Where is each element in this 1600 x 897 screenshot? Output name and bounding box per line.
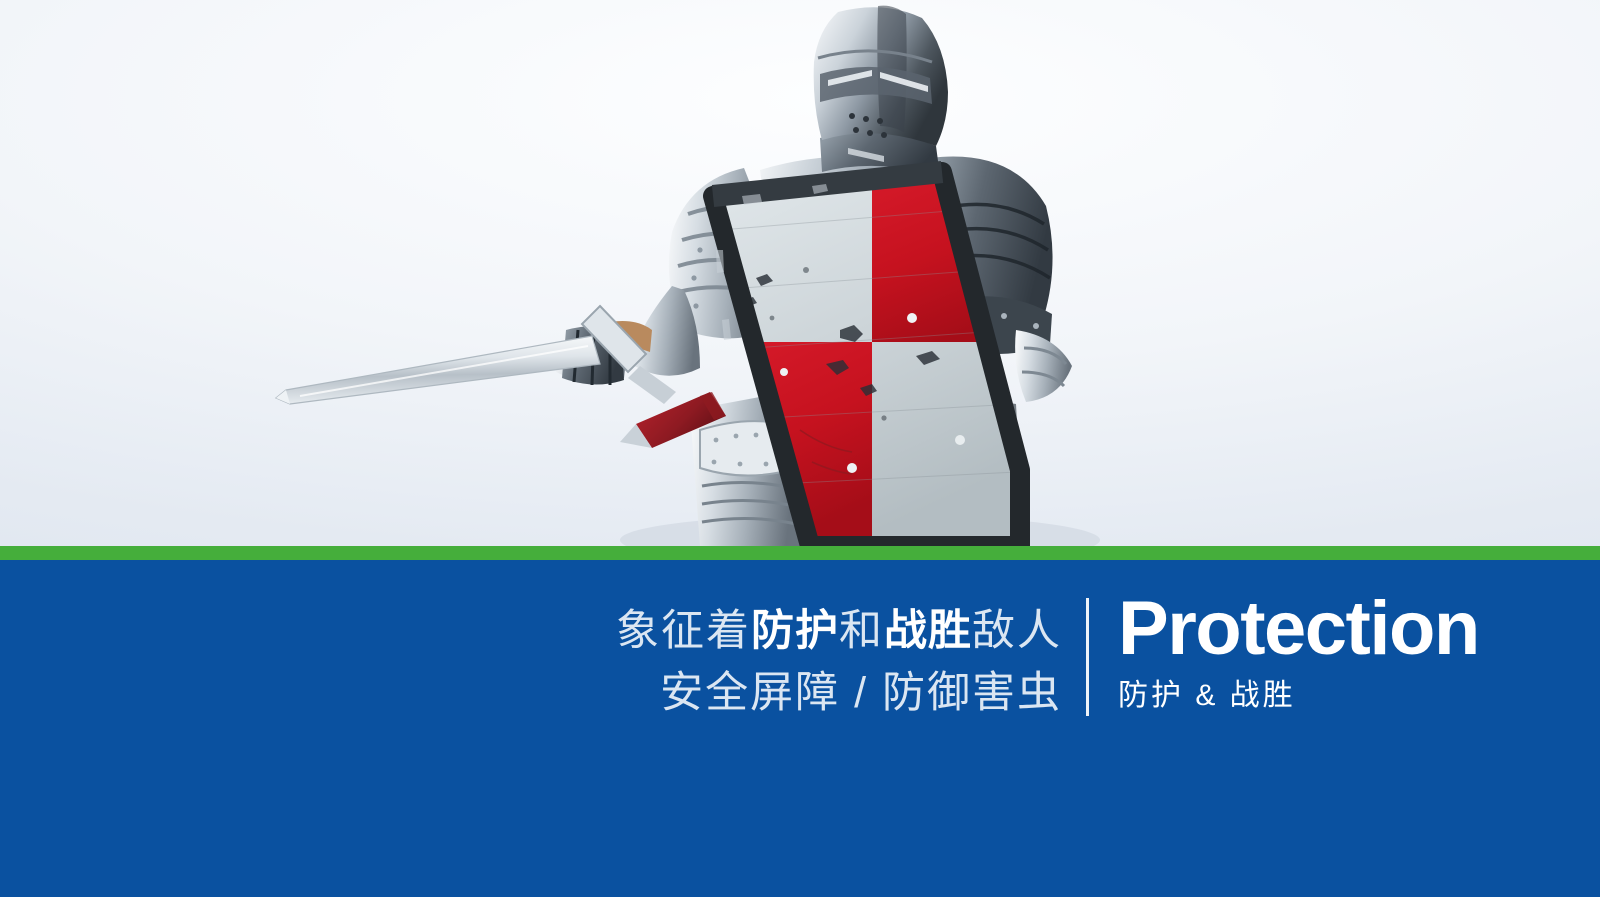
tagline-line1-seg-1: 防护 — [751, 607, 839, 655]
brand-design-slide: 象征着防护和战胜敌人 安全屏障 / 防御害虫 Protection 防护 & 战… — [0, 0, 1600, 897]
green-divider-stripe — [0, 546, 1600, 560]
page-title: Protection — [1118, 588, 1479, 670]
vertical-divider-rule — [1086, 598, 1089, 716]
tagline-line-1: 象征着防护和战胜敌人 — [0, 600, 1062, 662]
tagline-block: 象征着防护和战胜敌人 安全屏障 / 防御害虫 — [0, 600, 1062, 724]
tagline-line1-seg-2: 和 — [839, 607, 884, 655]
tagline-line-2: 安全屏障 / 防御害虫 — [0, 662, 1062, 724]
page-subtitle: 防护 & 战胜 — [1118, 678, 1479, 714]
title-block: Protection 防护 & 战胜 — [1118, 588, 1479, 714]
tagline-line2-seg-0: 安全屏障 / 防御害虫 — [660, 669, 1062, 717]
armored-knight-illustration — [0, 0, 1600, 546]
tagline-line1-seg-0: 象征着 — [616, 607, 751, 655]
blue-content-panel: 象征着防护和战胜敌人 安全屏障 / 防御害虫 Protection 防护 & 战… — [0, 560, 1600, 897]
hero-image-area — [0, 0, 1600, 546]
tagline-line1-seg-4: 敌人 — [972, 607, 1062, 655]
tagline-line1-seg-3: 战胜 — [884, 607, 972, 655]
